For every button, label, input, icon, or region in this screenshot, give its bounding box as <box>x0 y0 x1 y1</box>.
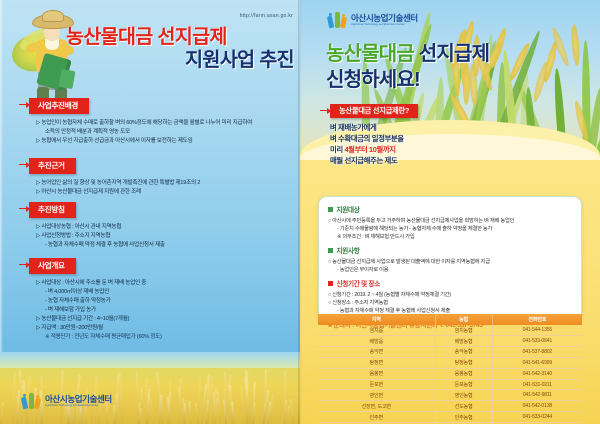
rice-stalk <box>0 402 4 424</box>
right-title: 농산물대금 선지급제 신청하세요! <box>326 42 489 93</box>
section-basis: 추진근거 ▷ 농어업인 삶의 질 향상 및 농어촌지역 개발촉진에 관한 특별법… <box>29 155 200 197</box>
cell-phone: 041-544-1355 <box>492 325 582 335</box>
column-header-phone: 전화번호 <box>492 314 582 325</box>
list-item: - 기준치 수매물량에 해당되는 농가 - 농협자체 수매 출하 약정을 체결한… <box>328 225 572 233</box>
list-item: - 벼 재해보험 가입 농가 <box>36 306 162 315</box>
rice-stalk <box>146 394 150 424</box>
section-2-tag-label: 추진근거 <box>38 161 65 170</box>
list-item: ※ 적용단가 : 전년도 자체수매 평균매입가 (60% 정도) <box>36 333 162 342</box>
right-sub-tag: 농산물대금 선지급제란? <box>330 104 418 119</box>
header-logo-text: 아산시농업기술센터 Agriculture Technology and Ext… <box>351 14 418 27</box>
list-item: - 농업인은 무이자로 이용 <box>328 266 572 274</box>
red-square-icon <box>328 281 333 286</box>
list-item: ▷ 농협에서 우선 지급출하 선급금과 아산시에서 이자를 보전하는 제도임 <box>36 137 252 146</box>
cell-phone: 041-537-8802 <box>492 346 582 357</box>
list-item: ○ 신청장소 : 주소지 지역농협 <box>328 299 572 307</box>
card-heading: 지원사항 <box>328 245 572 255</box>
left-title: 농산물대금 선지급제 지원사업 추진 <box>66 26 294 73</box>
cell-region: 둔포면 <box>318 379 435 390</box>
page-gutter <box>298 0 302 424</box>
list-item: - 농협 자체수매 출하 약정농가 <box>36 297 162 306</box>
cell-phone: 041-542-9811 <box>492 390 582 401</box>
list-item: ○ 신청기간 : 2019. 2 ~ 4월 (농협별 자체수매 약정체결 기간) <box>328 291 572 299</box>
cell-phone: 041-541-6999 <box>492 357 582 368</box>
section-3-tag: 추진방침 <box>29 202 76 218</box>
section-4-tag: 사업개요 <box>29 258 76 274</box>
section-1-tag-label: 사업추진배경 <box>38 101 78 110</box>
rice-stalk <box>252 402 256 424</box>
section-4-body: ▷ 사업대상 : 아산시에 주소를 둔 벼 재배 농업인 중 - 벼 4,000… <box>29 279 162 342</box>
section-3-tag-label: 추진방침 <box>38 205 65 214</box>
section-4-tag-label: 사업개요 <box>38 261 65 270</box>
list-item: ▷ 사업대상 : 아산시에 주소를 둔 벼 재배 농업인 중 <box>36 279 162 288</box>
list-item: ▷ 사업신청방법 : 주소지 지역농협 <box>36 232 165 241</box>
cell-coop: 둔포농협 <box>435 379 492 390</box>
table-row: 둔포면둔포농협041-531-0211 <box>318 379 582 390</box>
rice-stalk <box>217 390 221 424</box>
arrow-right-icon <box>19 161 30 168</box>
cell-region: 배방읍 <box>318 336 435 347</box>
table-row: 탕정면탕정농협041-541-6999 <box>318 357 582 368</box>
right-title-green: 농산물대금 <box>326 43 414 65</box>
cell-region: 인주면 <box>318 412 435 423</box>
list-item: ○ 아산시에 주민등록을 두고 거주하며 농산물대금 선지급제사업을 희망하는 … <box>328 217 572 225</box>
sub-line: 벼 재배농가에게 <box>330 123 505 134</box>
card-block-target: 지원대상 ○ 아산시에 주민등록을 두고 거주하며 농산물대금 선지급제사업을 … <box>328 204 572 241</box>
card-heading-label: 지원사항 <box>337 245 360 255</box>
right-subsection: 농산물대금 선지급제란? 벼 재배농가에게 벼 수확대금의 일정부분을 미리 4… <box>330 100 505 166</box>
info-card: 지원대상 ○ 아산시에 주민등록을 두고 거주하며 농산물대금 선지급제사업을 … <box>318 196 582 322</box>
table-body: 염치읍염치농협041-544-1355배방읍배방농협041-533-0841송악… <box>318 325 582 424</box>
rice-field-photo: 아산시농업기술센터 Agriculture Technology and Ext… <box>0 352 300 424</box>
green-square-icon <box>328 248 333 253</box>
rice-stalk <box>188 401 192 424</box>
cell-coop: 송악농협 <box>435 346 492 357</box>
right-title-line2: 신청하세요! <box>326 68 489 94</box>
column-header-coop: 농협 <box>435 314 492 325</box>
card-heading-label: 신청기간 및 장소 <box>337 278 380 288</box>
cell-region: 음봉면 <box>318 368 435 379</box>
atec-logo-icon <box>328 12 347 29</box>
cell-coop: 인주농협 <box>435 412 492 423</box>
cell-phone: 041-542-3140 <box>492 368 582 379</box>
table-row: 음봉면음봉농협041-542-3140 <box>318 368 582 379</box>
arrow-right-icon <box>320 107 331 114</box>
list-item: ▷ 지급액 : 30만원~200만원/월 <box>36 324 162 333</box>
cell-region: 송악면 <box>318 346 435 357</box>
arrow-right-icon <box>19 205 30 212</box>
list-item: ○ 농산물대금 선지급제 사업으로 발생된 대출액에 대한 이자를 지역농협에 … <box>328 258 572 266</box>
table-row: 배방읍배방농협041-533-0841 <box>318 336 582 347</box>
cell-coop: 선도농협 <box>435 401 492 412</box>
rice-stalk <box>290 399 295 424</box>
right-sub-text: 벼 재배농가에게 벼 수확대금의 일정부분을 미리 4월부터 10월까지 매월 … <box>330 123 505 166</box>
sub-line: 벼 수확대금의 일정부분을 <box>330 134 505 145</box>
right-title-navy1: 선지급제 <box>419 43 489 65</box>
straw-hat-crown <box>42 10 64 22</box>
right-page: 아산시농업기술센터 Agriculture Technology and Ext… <box>300 0 600 424</box>
card-heading: 지원대상 <box>328 204 572 214</box>
cell-phone: 041-542-0138 <box>492 401 582 412</box>
table-header-row: 지역 농협 전화번호 <box>318 314 582 325</box>
photo-sky <box>0 352 300 368</box>
brochure-page: http://farm.asan.go.kr 농산물대금 선지급제 지원사업 추… <box>0 0 600 424</box>
sub-line: 매월 선지급해주는 제도 <box>330 156 505 167</box>
section-2-tag: 추진근거 <box>29 158 76 174</box>
cell-coop: 탕정농협 <box>435 357 492 368</box>
website-url: http://farm.asan.go.kr <box>240 13 293 19</box>
list-item: ▷ 농어업인 삶의 질 향상 및 농어촌지역 개발촉진에 관한 특별법 제19조… <box>36 179 200 188</box>
cell-region: 선장면, 도고면 <box>318 401 435 412</box>
sub-line-highlighted: 미리 4월부터 10월까지 <box>330 145 505 156</box>
card-heading-label: 지원대상 <box>337 204 360 214</box>
green-square-icon <box>328 207 333 212</box>
list-item: ▷ 농업인이 농협자체 수매로 출하할 벼의 60%정도에 해당하는 금액을 월… <box>36 119 252 128</box>
cell-coop: 영인농협 <box>435 390 492 401</box>
table-row: 영인면영인농협041-542-9811 <box>318 390 582 401</box>
card-block-support: 지원사항 ○ 농산물대금 선지급제 사업으로 발생된 대출액에 대한 이자를 지… <box>328 245 572 274</box>
cell-coop: 염치농협 <box>435 325 492 335</box>
arrow-right-icon <box>19 101 30 108</box>
section-background: 사업추진배경 ▷ 농업인이 농협자체 수매로 출하할 벼의 60%정도에 해당하… <box>29 95 252 146</box>
arrow-right-icon <box>19 261 30 268</box>
section-2-body: ▷ 농어업인 삶의 질 향상 및 농어촌지역 개발촉진에 관한 특별법 제19조… <box>29 179 200 197</box>
section-3-body: ▷ 사업대상농협 : 아산시 관내 지역농협 ▷ 사업신청방법 : 주소지 지역… <box>29 223 165 250</box>
footer-logo-sub: Agriculture Technology and Extension Cen… <box>45 404 112 407</box>
rice-stalk <box>150 398 155 424</box>
rice-stalk <box>12 373 15 424</box>
list-item: ▷ 농산물대금 선지급 기간 : 4~10월(7개월) <box>36 315 162 324</box>
card-heading: 신청기간 및 장소 <box>328 278 572 288</box>
cell-region: 염치읍 <box>318 325 435 335</box>
section-1-tag: 사업추진배경 <box>29 98 89 114</box>
header-logo: 아산시농업기술센터 Agriculture Technology and Ext… <box>328 12 418 29</box>
cell-phone: 041-533-0244 <box>492 412 582 423</box>
table: 지역 농협 전화번호 염치읍염치농협041-544-1355배방읍배방농협041… <box>318 314 582 424</box>
rice-stalk <box>270 394 274 424</box>
section-policy: 추진방침 ▷ 사업대상농협 : 아산시 관내 지역농협 ▷ 사업신청방법 : 주… <box>29 199 165 250</box>
list-item: ▷ 아산시 농산물대금 선지급제 지원에 관한 조례 <box>36 188 200 197</box>
cell-phone: 041-531-0211 <box>492 379 582 390</box>
list-item: ▷ 사업대상농협 : 아산시 관내 지역농협 <box>36 223 165 232</box>
contact-table: 지역 농협 전화번호 염치읍염치농협041-544-1355배방읍배방농협041… <box>318 314 582 424</box>
cell-region: 탕정면 <box>318 357 435 368</box>
footer-logo-text: 아산시농업기술센터 Agriculture Technology and Ext… <box>45 395 112 408</box>
right-title-line1: 농산물대금 선지급제 <box>326 42 489 68</box>
column-header-region: 지역 <box>318 314 435 325</box>
right-sub-tag-label: 농산물대금 선지급제란? <box>339 106 409 115</box>
left-title-line2: 지원사업 추진 <box>66 48 294 72</box>
list-item: - 농협과 자체수매 약정 체결 후 농협에 사업신청서 제출 <box>36 241 165 250</box>
left-page: http://farm.asan.go.kr 농산물대금 선지급제 지원사업 추… <box>0 0 300 424</box>
section-overview: 사업개요 ▷ 사업대상 : 아산시에 주소를 둔 벼 재배 농업인 중 - 벼 … <box>29 255 162 342</box>
header-logo-sub: Agriculture Technology and Extension Cen… <box>351 23 418 26</box>
cell-coop: 배방농협 <box>435 336 492 347</box>
table-row: 송악면송악농협041-537-8802 <box>318 346 582 357</box>
atec-logo-icon <box>22 393 41 410</box>
section-1-body: ▷ 농업인이 농협자체 수매로 출하할 벼의 60%정도에 해당하는 금액을 월… <box>29 119 252 146</box>
table-row: 선장면, 도고면선도농협041-542-0138 <box>318 401 582 412</box>
list-item: 소득의 안정적 배분과 계획적 영농 도모 <box>36 128 252 137</box>
rice-stalk <box>286 406 290 424</box>
list-item: ※ 의무조건 : 벼 재해보험 반드시 가입 <box>328 233 572 241</box>
table-row: 인주면인주농협041-533-0244 <box>318 412 582 423</box>
footer-logo: 아산시농업기술센터 Agriculture Technology and Ext… <box>22 393 112 410</box>
table-row: 염치읍염치농협041-544-1355 <box>318 325 582 335</box>
cell-region: 영인면 <box>318 390 435 401</box>
rice-stalk <box>119 372 123 424</box>
cell-coop: 음봉농협 <box>435 368 492 379</box>
rice-stalk <box>161 395 164 424</box>
cell-phone: 041-533-0841 <box>492 336 582 347</box>
list-item: - 벼 4,000㎡이상 재배 농업인 <box>36 288 162 297</box>
card-block-period: 신청기간 및 장소 ○ 신청기간 : 2019. 2 ~ 4월 (농협별 자체수… <box>328 278 572 315</box>
rice-stalk <box>284 370 286 424</box>
left-title-line1: 농산물대금 선지급제 <box>66 26 294 48</box>
